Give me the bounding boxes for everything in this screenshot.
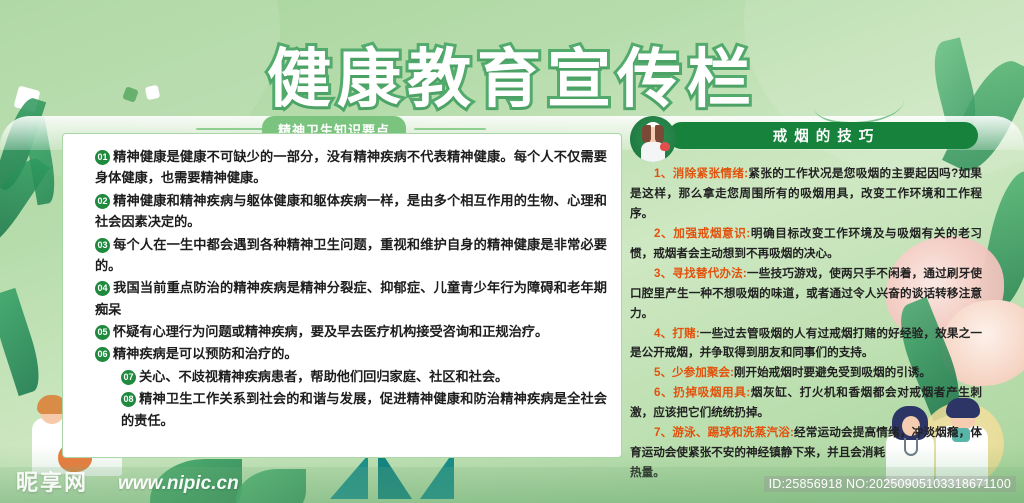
list-item: 04我国当前重点防治的精神疾病是精神分裂症、抑郁症、儿童青少年行为障碍和老年期痴… [77,277,607,320]
item-keyword: 加强戒烟意识: [673,227,750,240]
list-item: 08精神卫生工作关系到社会的和谐与发展，促进精神健康和防治精神疾病是全社会的责任… [77,388,607,431]
list-item: 07关心、不歧视精神疾病患者，帮助他们回归家庭、社区和社会。 [77,366,607,387]
right-title-pill: 戒烟的技巧 [668,122,978,149]
item-keyword: 扔掉吸烟用具: [673,386,750,399]
item-number: 6、 [654,386,673,399]
item-keyword: 打赌: [672,327,699,340]
list-item: 01精神健康是健康不可缺少的一部分，没有精神疾病不代表精神健康。每个人不仅需要身… [77,146,607,189]
item-text: 精神疾病是可以预防和治疗的。 [113,346,298,361]
list-item: 6、扔掉吸烟用具:烟灰缸、打火机和香烟都会对戒烟者产生刺激，应该把它们统统扔掉。 [630,383,982,423]
item-number-badge: 08 [121,392,136,407]
badge-rule-right [414,128,486,130]
list-item: 1、消除紧张情绪:紧张的工作状况是您吸烟的主要起因吗?如果是这样，那么拿走您周围… [630,164,982,224]
right-panel-header: 戒烟的技巧 [630,120,982,156]
leaf-right-3 [976,167,1024,313]
list-item: 03每个人在一生中都会遇到各种精神卫生问题，重视和维护自身的精神健康是非常必要的… [77,234,607,277]
right-section-title: 戒烟的技巧 [766,125,881,146]
item-number: 5、 [654,366,672,379]
item-number: 4、 [654,327,672,340]
item-keyword: 游泳、踢球和洗蒸汽浴: [672,426,793,439]
item-keyword: 少参加聚会: [672,366,734,379]
item-keyword: 消除紧张情绪: [673,167,748,180]
watermark-url: www.nipic.cn [118,473,239,495]
item-number-badge: 04 [95,281,110,296]
item-number-badge: 01 [95,150,110,165]
item-number: 1、 [654,167,673,180]
watermark-id: ID:25856918 NO:20250905103318671100 [764,476,1016,492]
poster-title: 健康教育宣传栏 [267,28,757,120]
item-text: 我国当前重点防治的精神疾病是精神分裂症、抑郁症、儿童青少年行为障碍和老年期痴呆 [95,280,607,316]
item-text: 怀疑有心理行为问题或精神疾病，要及早去医疗机构接受咨询和正规治疗。 [113,324,548,339]
item-number-badge: 07 [121,370,136,385]
item-text: 精神健康和精神疾病与躯体健康和躯体疾病一样，是由多个相互作用的生物、心理和社会因… [95,193,607,229]
item-number: 2、 [654,227,673,240]
item-number-badge: 05 [95,325,110,340]
item-number-badge: 02 [95,194,110,209]
list-item: 05怀疑有心理行为问题或精神疾病，要及早去医疗机构接受咨询和正规治疗。 [77,321,607,342]
item-keyword: 寻找替代办法: [672,267,746,280]
item-text: 精神卫生工作关系到社会的和谐与发展，促进精神健康和防治精神疾病是全社会的责任。 [121,391,607,427]
item-number-badge: 06 [95,347,110,362]
list-item: 3、寻找替代办法:一些技巧游戏，使两只手不闲着，通过刷牙使口腔里产生一种不想吸烟… [630,264,982,324]
right-content-panel: 戒烟的技巧 1、消除紧张情绪:紧张的工作状况是您吸烟的主要起因吗?如果是这样，那… [630,120,982,455]
list-item: 2、加强戒烟意识:明确目标改变工作环境及与吸烟有关的老习惯，戒烟者会主动想到不再… [630,224,982,264]
item-number-badge: 03 [95,238,110,253]
nurse-illustration-icon [630,116,676,162]
poster-title-container: 健康教育宣传栏 [0,36,1024,112]
item-text: 刚开始戒烟时要避免受到吸烟的引诱。 [734,366,931,379]
list-item: 4、打赌:一些过去管吸烟的人有过戒烟打赌的好经验，效果之一是公开戒烟，并争取得到… [630,324,982,364]
right-items-list: 1、消除紧张情绪:紧张的工作状况是您吸烟的主要起因吗?如果是这样，那么拿走您周围… [630,164,982,483]
list-item: 06精神疾病是可以预防和治疗的。 [77,343,607,364]
watermark-bar: 昵享网 www.nipic.cn ID:25856918 NO:20250905… [0,467,1024,503]
left-content-card: 01精神健康是健康不可缺少的一部分，没有精神疾病不代表精神健康。每个人不仅需要身… [62,133,622,458]
watermark-logo: 昵享网 [16,465,88,497]
badge-rule-left [196,128,268,130]
list-item: 5、少参加聚会:刚开始戒烟时要避免受到吸烟的引诱。 [630,363,982,383]
list-item: 02精神健康和精神疾病与躯体健康和躯体疾病一样，是由多个相互作用的生物、心理和社… [77,190,607,233]
item-number: 7、 [654,426,672,439]
leaf-left-4 [0,288,47,396]
poster-canvas: 健康教育宣传栏 精神卫生知识要点 01精神健康是健康不可缺少的一部分，没有精神疾… [0,0,1024,503]
item-number: 3、 [654,267,672,280]
leaf-left-3 [0,151,50,259]
item-text: 关心、不歧视精神疾病患者，帮助他们回归家庭、社区和社会。 [139,369,508,384]
item-text: 精神健康是健康不可缺少的一部分，没有精神疾病不代表精神健康。每个人不仅需要身体健… [95,149,607,185]
list-item: 7、游泳、踢球和洗蒸汽浴:经常运动会提高情绪，冲淡烟瘾，体育运动会使紧张不安的神… [630,423,982,463]
item-text: 每个人在一生中都会遇到各种精神卫生问题，重视和维护自身的精神健康是非常必要的。 [95,237,607,273]
